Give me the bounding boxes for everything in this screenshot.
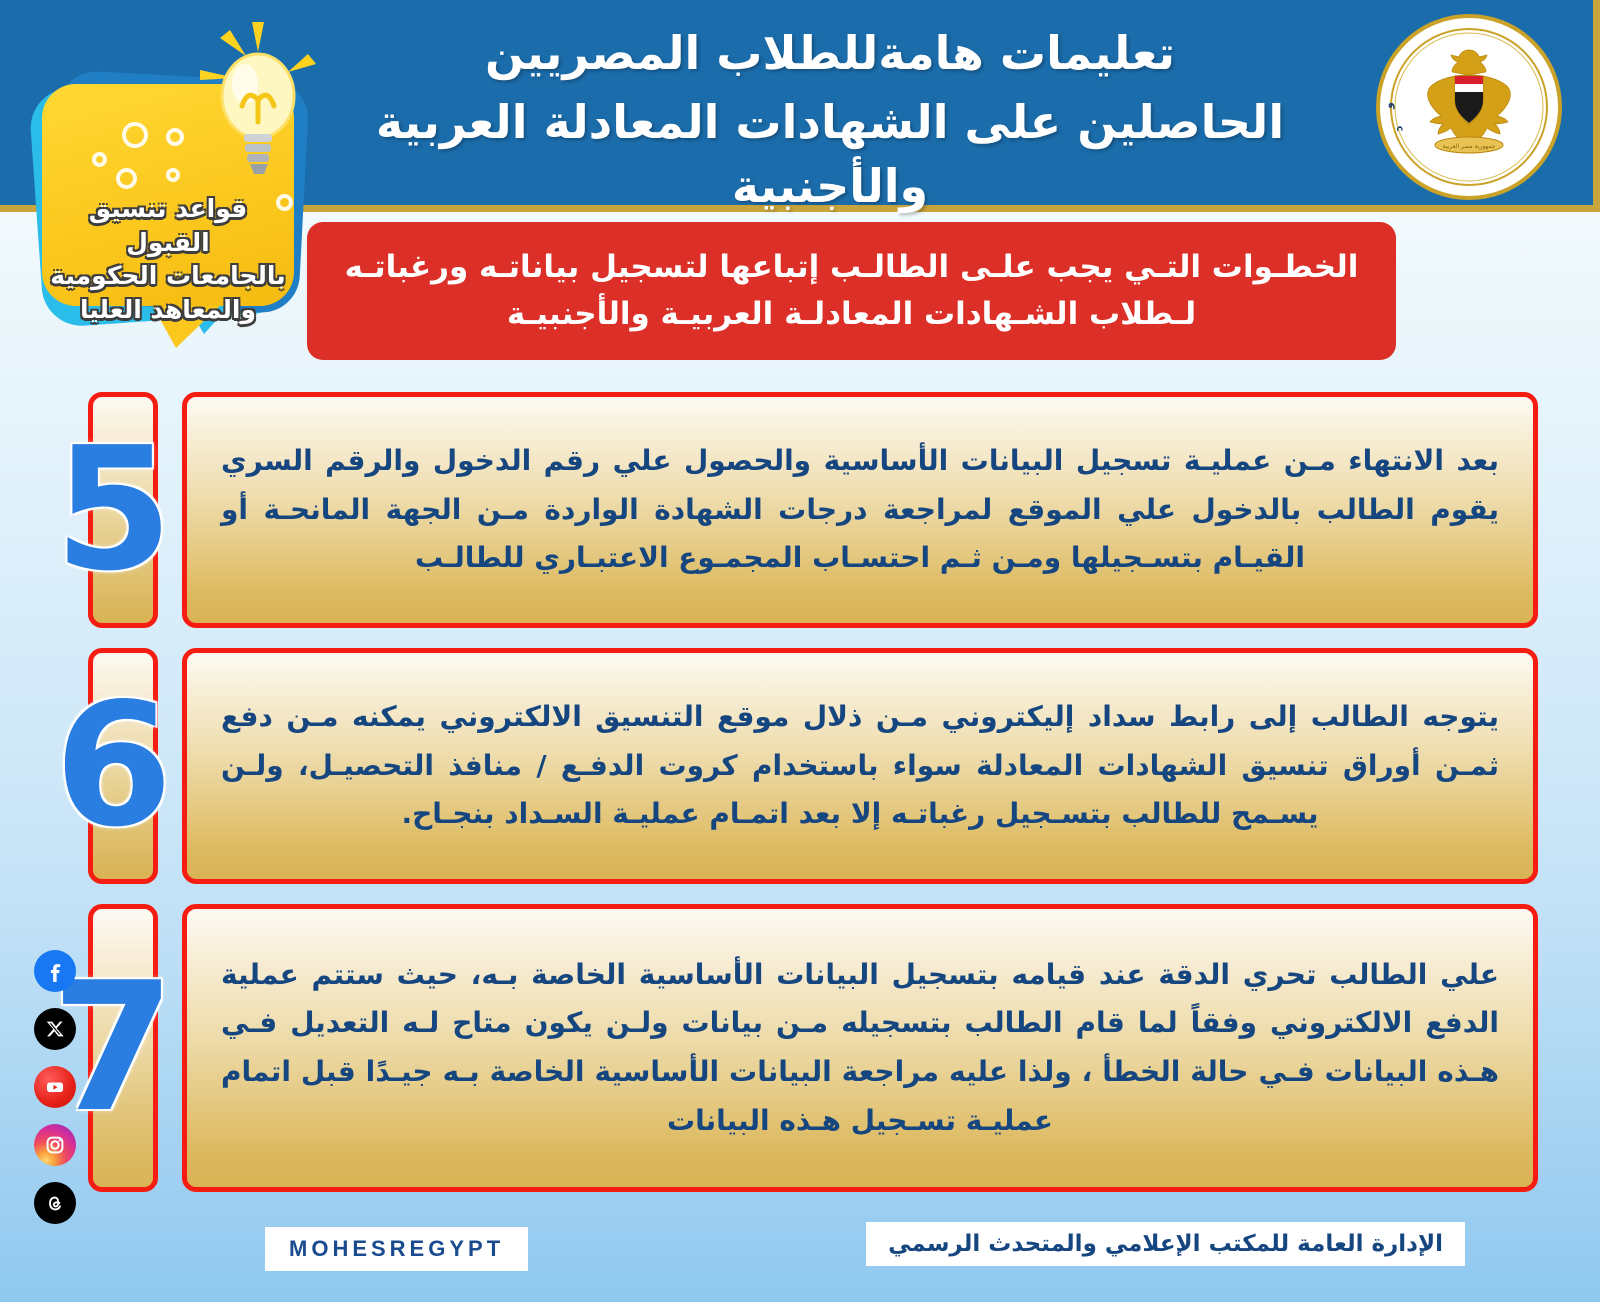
page-title-line-1: تعليمات هامةللطلاب المصريين — [485, 26, 1175, 80]
instructions-banner-line-2: لـطلاب الشـهادات المعادلـة العربيـة والأ… — [345, 291, 1359, 338]
youtube-icon[interactable] — [34, 1066, 76, 1108]
instructions-banner-text: الخطـوات التـي يجب علـى الطالـب إتباعها … — [319, 244, 1385, 338]
step-5-text: بعد الانتهاء مـن عمليـة تسجيل البيانات ا… — [221, 437, 1499, 583]
step-7-number-tab: 7 — [88, 904, 158, 1192]
svg-text:جمهورية مصر العربية: جمهورية مصر العربية — [1443, 143, 1496, 150]
facebook-icon[interactable] — [34, 950, 76, 992]
step-7-text: علي الطالب تحري الدقة عند قيامه بتسجيل ا… — [221, 951, 1499, 1146]
department-label: الإدارة العامة للمكتب الإعلامي والمتحدث … — [866, 1222, 1465, 1266]
bubble-dot — [92, 152, 107, 167]
social-handle: MOHESREGYPT — [265, 1227, 528, 1271]
step-row-6: يتوجه الطالب إلى رابط سداد إليكتروني مـن… — [88, 648, 1538, 884]
step-5-number: 5 — [54, 425, 172, 595]
rules-badge: قواعد تنسيق القبول بالجامعات الحكومية وا… — [14, 16, 326, 346]
step-row-7: علي الطالب تحري الدقة عند قيامه بتسجيل ا… — [88, 904, 1538, 1192]
lightbulb-icon — [190, 22, 322, 198]
step-6-number: 6 — [54, 681, 172, 851]
instructions-banner-line-1: الخطـوات التـي يجب علـى الطالـب إتباعها … — [345, 244, 1359, 291]
bubble-dot — [122, 122, 148, 148]
badge-text: قواعد تنسيق القبول بالجامعات الحكومية وا… — [46, 192, 290, 326]
step-5-box: بعد الانتهاء مـن عمليـة تسجيل البيانات ا… — [182, 392, 1538, 628]
step-6-text: يتوجه الطالب إلى رابط سداد إليكتروني مـن… — [221, 693, 1499, 839]
x-twitter-icon[interactable] — [34, 1008, 76, 1050]
instructions-banner: الخطـوات التـي يجب علـى الطالـب إتباعها … — [307, 222, 1396, 360]
badge-line-2: بالجامعات الحكومية — [46, 259, 290, 293]
bubble-dot — [166, 168, 180, 182]
step-7-box: علي الطالب تحري الدقة عند قيامه بتسجيل ا… — [182, 904, 1538, 1192]
badge-line-1: قواعد تنسيق القبول — [46, 192, 290, 259]
bubble-dot — [116, 168, 137, 189]
step-6-number-tab: 6 — [88, 648, 158, 884]
bubble-dot — [166, 128, 184, 146]
badge-line-3: والمعاهد العليا — [46, 293, 290, 327]
instagram-icon[interactable] — [34, 1124, 76, 1166]
social-links — [22, 950, 76, 1224]
step-row-5: بعد الانتهاء مـن عمليـة تسجيل البيانات ا… — [88, 392, 1538, 628]
threads-icon[interactable] — [34, 1182, 76, 1224]
step-5-number-tab: 5 — [88, 392, 158, 628]
page-title-line-2: الحاصلين على الشهادات المعادلة العربية و… — [300, 91, 1360, 218]
page-title: تعليمات هامةللطلاب المصريين الحاصلين على… — [300, 22, 1360, 218]
ministry-logo: جمهورية مصر العربية وزارة التعليم العالى… — [1376, 14, 1562, 200]
step-6-box: يتوجه الطالب إلى رابط سداد إليكتروني مـن… — [182, 648, 1538, 884]
